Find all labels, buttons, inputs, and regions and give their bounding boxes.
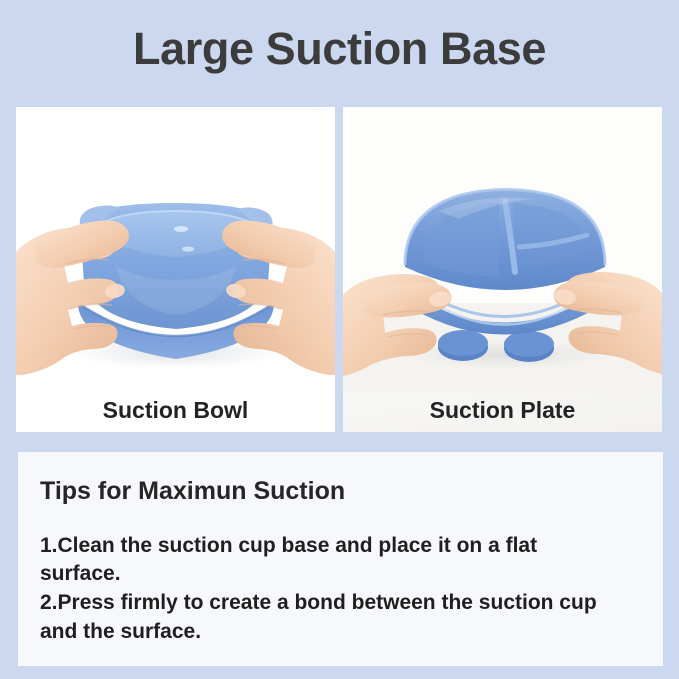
caption-suction-plate: Suction Plate — [343, 392, 662, 432]
tips-card: Tips for Maximun Suction 1.Clean the suc… — [18, 452, 663, 666]
bowl-highlight — [182, 246, 194, 251]
suction-plate-illustration — [343, 107, 662, 392]
suction-bowl-photo — [16, 107, 335, 392]
panel-suction-bowl: Suction Bowl — [16, 107, 335, 432]
caption-suction-bowl: Suction Bowl — [16, 392, 335, 432]
tips-body: 1.Clean the suction cup base and place i… — [40, 532, 641, 648]
product-feature-page: Large Suction Base — [0, 0, 679, 679]
panel-suction-plate: Suction Plate — [343, 107, 662, 432]
tips-line-2: surface. — [40, 560, 641, 589]
tips-heading: Tips for Maximun Suction — [40, 478, 641, 506]
tips-line-1: 1.Clean the suction cup base and place i… — [40, 532, 641, 561]
bowl-highlight — [174, 226, 188, 232]
suction-plate-photo — [343, 107, 662, 392]
tips-line-3: 2.Press firmly to create a bond between … — [40, 589, 641, 618]
suction-bowl-illustration — [16, 107, 335, 392]
photo-row: Suction Bowl — [16, 107, 663, 432]
page-title: Large Suction Base — [0, 26, 679, 71]
tips-line-4: and the surface. — [40, 618, 641, 647]
